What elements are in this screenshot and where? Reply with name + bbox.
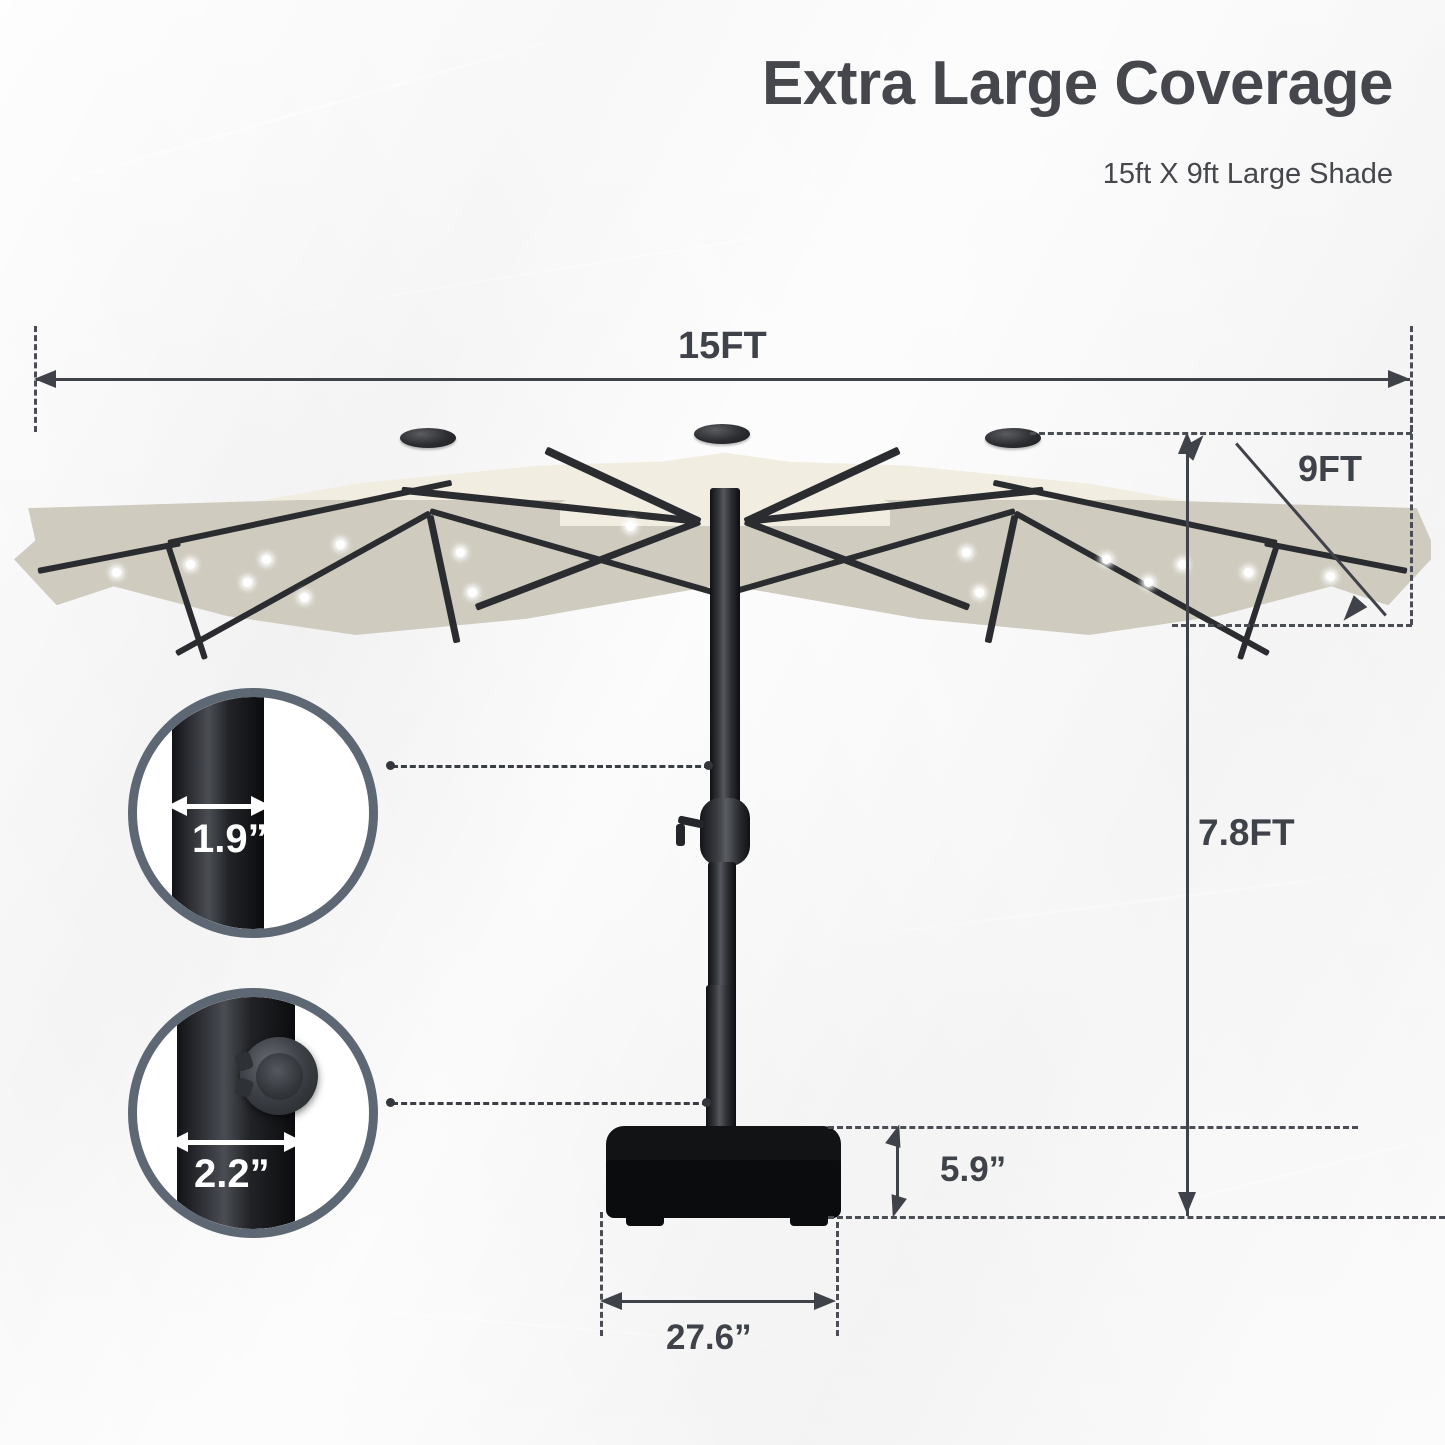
depth-extension-line-top bbox=[1030, 432, 1412, 435]
led-light bbox=[186, 560, 195, 569]
led-light bbox=[1244, 568, 1253, 577]
umbrella-pole-upper bbox=[710, 488, 740, 808]
led-light bbox=[626, 522, 635, 531]
page-subtitle: 15ft X 9ft Large Shade bbox=[1103, 158, 1393, 191]
background-texture-streak bbox=[165, 190, 1054, 333]
detail-circle-content: 2.2” bbox=[137, 997, 369, 1229]
base-width-extension-right bbox=[836, 1222, 839, 1336]
led-light bbox=[336, 540, 345, 549]
detail-leader-line-crank bbox=[392, 1102, 708, 1105]
pole-diameter-arrow-left bbox=[167, 796, 187, 816]
width-arrow-right bbox=[1388, 370, 1410, 388]
detail-circle-crank-diameter: 2.2” bbox=[128, 988, 378, 1238]
crank-diameter-label: 2.2” bbox=[194, 1152, 270, 1197]
umbrella-base-foot-right bbox=[790, 1214, 828, 1226]
detail-circle-content: 1.9” bbox=[137, 697, 369, 929]
led-light bbox=[962, 548, 971, 557]
crank-handle-grip bbox=[676, 824, 685, 846]
background-texture-streak bbox=[822, 861, 1445, 942]
crank-knob-face bbox=[256, 1053, 303, 1100]
led-light bbox=[456, 548, 465, 557]
crank-housing bbox=[700, 798, 750, 866]
detail-leader-line-pole bbox=[392, 765, 710, 768]
base-width-dimension-line bbox=[618, 1300, 818, 1303]
crank-diameter-measure-line bbox=[183, 1140, 286, 1145]
led-light bbox=[1144, 578, 1153, 587]
width-dimension-label: 15FT bbox=[678, 325, 767, 368]
base-height-extension-bottom bbox=[828, 1216, 1445, 1219]
depth-extension-line-right bbox=[1410, 425, 1413, 625]
detail-leader-dot bbox=[386, 1098, 395, 1107]
led-light bbox=[300, 593, 309, 602]
pole-diameter-measure-line bbox=[183, 804, 253, 809]
depth-dimension-label: 9FT bbox=[1298, 448, 1362, 490]
detail-leader-dot bbox=[704, 761, 713, 770]
background-texture-streak bbox=[42, 1281, 939, 1361]
pole-diameter-arrow-right bbox=[251, 796, 271, 816]
width-arrow-left bbox=[34, 370, 56, 388]
height-arrow-top bbox=[1178, 432, 1196, 454]
detail-leader-dot bbox=[702, 1098, 711, 1107]
led-light bbox=[112, 568, 121, 577]
pole-diameter-label: 1.9” bbox=[192, 817, 268, 862]
background-texture-streak bbox=[1007, 1117, 1445, 1246]
crank-diameter-arrow-right bbox=[284, 1132, 304, 1152]
base-width-arrow-left bbox=[600, 1292, 622, 1310]
width-dimension-line bbox=[36, 378, 1410, 381]
base-height-extension-top bbox=[828, 1126, 1358, 1129]
led-light bbox=[468, 588, 477, 597]
height-dimension-label: 7.8FT bbox=[1198, 812, 1295, 854]
depth-extension-line-bottom bbox=[1172, 624, 1412, 627]
base-width-label: 27.6” bbox=[666, 1318, 752, 1358]
led-light bbox=[975, 588, 984, 597]
umbrella-base-body bbox=[606, 1160, 841, 1218]
base-width-extension-left bbox=[600, 1212, 603, 1336]
led-light bbox=[1326, 572, 1335, 581]
umbrella-pole-lower bbox=[708, 862, 736, 992]
crank-diameter-arrow-left bbox=[168, 1132, 188, 1152]
height-dimension-line bbox=[1186, 454, 1189, 1216]
solar-panel-cap-right bbox=[985, 428, 1041, 448]
detail-circle-pole-diameter: 1.9” bbox=[128, 688, 378, 938]
solar-panel-cap-left bbox=[400, 428, 456, 448]
height-arrow-bottom bbox=[1178, 1192, 1196, 1214]
page-title: Extra Large Coverage bbox=[762, 48, 1393, 119]
led-light bbox=[243, 578, 252, 587]
background-texture-streak bbox=[0, 24, 607, 220]
base-width-arrow-right bbox=[814, 1292, 836, 1310]
solar-panel-cap-center bbox=[694, 424, 750, 444]
product-dimension-diagram: Extra Large Coverage 15ft X 9ft Large Sh… bbox=[0, 0, 1445, 1445]
led-light bbox=[262, 555, 271, 564]
base-height-label: 5.9” bbox=[940, 1150, 1006, 1190]
umbrella-pole-base-section bbox=[706, 985, 736, 1145]
led-light bbox=[1102, 555, 1111, 564]
detail-leader-dot bbox=[386, 761, 395, 770]
umbrella-base-foot-left bbox=[626, 1214, 664, 1226]
